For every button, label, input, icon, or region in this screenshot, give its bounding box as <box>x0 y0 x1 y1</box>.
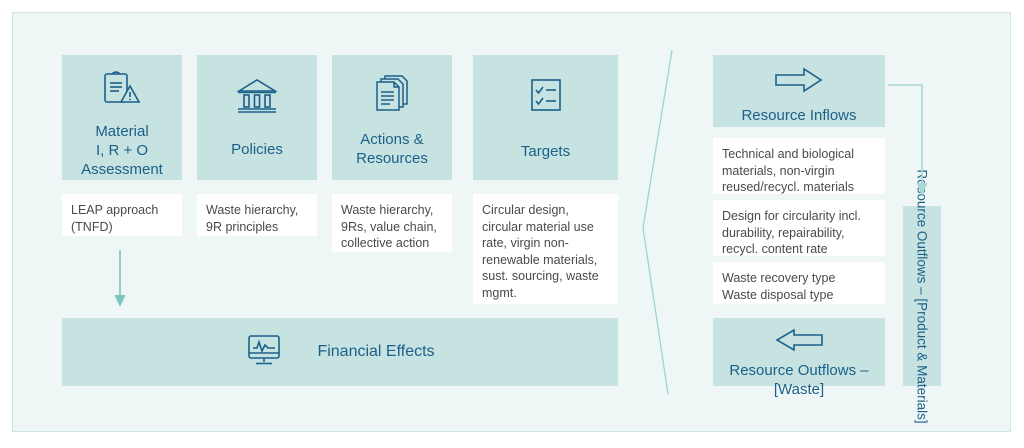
pillar-label-line: Targets <box>515 142 576 161</box>
resource-outflows-product-tile[interactable]: Resource Outflows – [Product & Materials… <box>903 206 941 386</box>
inflow-note-materials: Technical and biological materials, non-… <box>713 138 885 194</box>
resource-outflows-waste-tile[interactable]: Resource Outflows – [Waste] <box>713 318 885 386</box>
pillar-label-line: Material <box>75 122 169 141</box>
pillar-note-actions-resources: Waste hierarchy, 9Rs, value chain, colle… <box>332 194 452 252</box>
note-line: Waste recovery type <box>722 270 876 287</box>
resource-outflows-product-label: Resource Outflows – [Product & Materials… <box>914 169 931 423</box>
financial-effects-bar[interactable]: Financial Effects <box>62 318 618 386</box>
resource-inflows-tile[interactable]: Resource Inflows <box>713 55 885 127</box>
note-line: Waste disposal type <box>722 287 876 304</box>
pillar-label-line: Resources <box>350 149 434 168</box>
pillar-note-policies: Waste hierarchy, 9R principles <box>197 194 317 236</box>
note-line: durability, repairability, <box>722 225 876 242</box>
pillar-label-line: Assessment <box>75 160 169 179</box>
checklist-icon <box>525 77 567 122</box>
pillar-tile-targets[interactable]: Targets <box>473 55 618 180</box>
inflow-note-design-circularity: Design for circularity incl. durability,… <box>713 200 885 256</box>
outflow-note-waste-types: Waste recovery type Waste disposal type <box>713 262 885 304</box>
bank-columns-icon <box>235 77 279 120</box>
pillar-label-line: Actions & <box>350 130 434 149</box>
resource-outflows-waste-label-line: Resource Outflows – <box>713 361 885 380</box>
clipboard-warning-icon <box>100 69 144 114</box>
pillar-tile-policies[interactable]: Policies <box>197 55 317 180</box>
pillar-note-targets: Circular design, circular material use r… <box>473 194 618 304</box>
pillar-tile-material-assessment[interactable]: Material I, R + O Assessment <box>62 55 182 180</box>
arrow-right-outline-icon <box>773 67 825 98</box>
pillar-tile-actions-resources[interactable]: Actions & Resources <box>332 55 452 180</box>
documents-stack-icon <box>372 73 412 120</box>
resource-inflows-label: Resource Inflows <box>713 106 885 125</box>
pillar-note-material-assessment: LEAP approach (TNFD) <box>62 194 182 236</box>
note-line: materials, non-virgin <box>722 163 876 180</box>
pillar-label-line: Policies <box>225 140 289 159</box>
diagram-canvas: Material I, R + O Assessment LEAP approa… <box>0 0 1024 448</box>
monitor-chart-icon <box>245 333 283 372</box>
note-line: Design for circularity incl. <box>722 208 876 225</box>
note-line: recycl. content rate <box>722 241 876 258</box>
arrow-left-outline-icon <box>773 328 825 357</box>
note-line: Technical and biological <box>722 146 876 163</box>
note-line: reused/recycl. materials <box>722 179 876 196</box>
pillar-label-line: I, R + O <box>75 141 169 160</box>
resource-outflows-waste-label-line: [Waste] <box>713 380 885 399</box>
financial-effects-label: Financial Effects <box>317 343 434 361</box>
